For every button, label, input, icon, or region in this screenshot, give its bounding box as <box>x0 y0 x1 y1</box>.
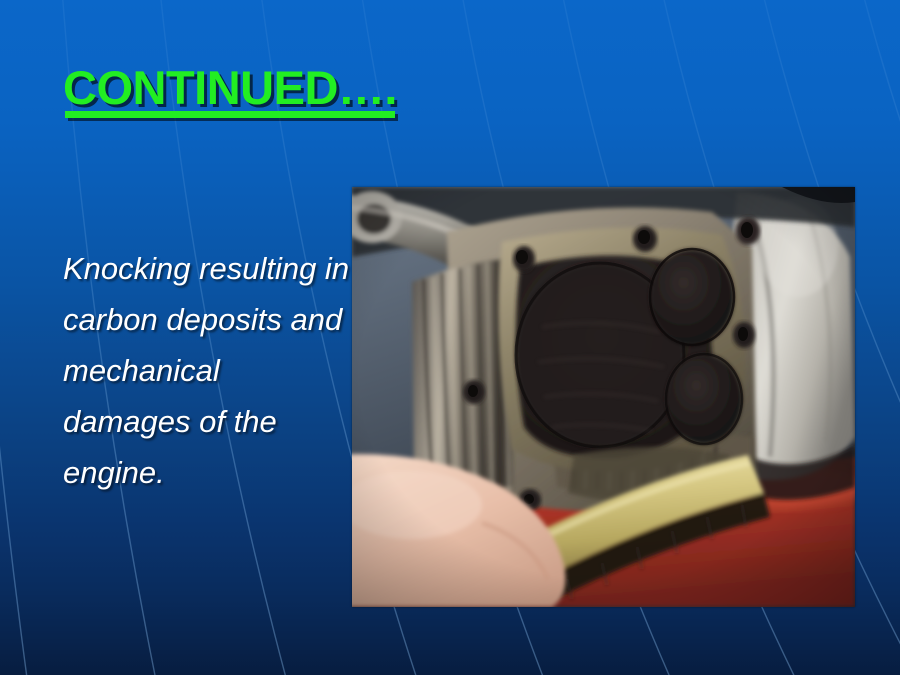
slide-title-text: CONTINUED…. <box>63 61 397 114</box>
slide-canvas: CONTINUED…. Knocking resulting in carbon… <box>0 0 900 675</box>
slide-title: CONTINUED…. <box>63 60 397 115</box>
title-underline <box>65 111 395 118</box>
slide-body-text: Knocking resulting in carbon deposits an… <box>63 243 353 498</box>
engine-photo-illustration <box>352 187 855 607</box>
engine-carbon-deposit-photo <box>352 187 855 607</box>
